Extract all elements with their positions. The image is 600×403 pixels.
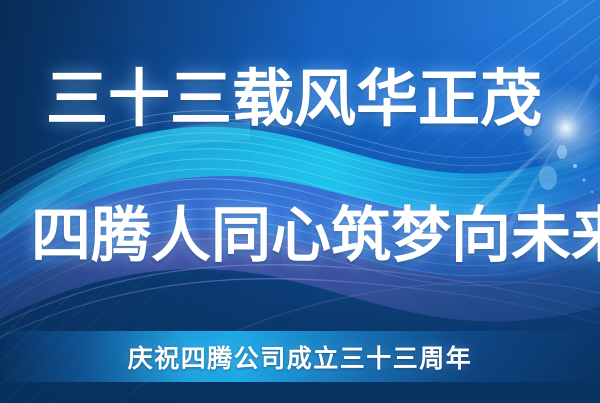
anniversary-poster: 三十三载风华正茂 四腾人同心筑梦向未来 庆祝四腾公司成立三十三周年 — [0, 0, 600, 403]
headline-line-2: 四腾人同心筑梦向未来 — [31, 200, 600, 272]
headline-line-1: 三十三载风华正茂 — [46, 62, 542, 136]
subtitle-text: 庆祝四腾公司成立三十三周年 — [0, 331, 600, 382]
